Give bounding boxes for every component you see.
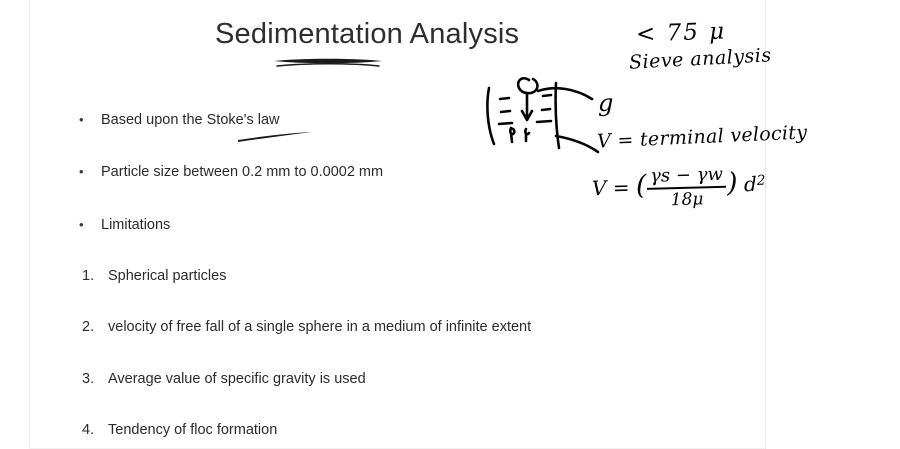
bullet-dot-icon: • bbox=[79, 218, 101, 231]
list-item-specific-gravity: 3. Average value of specific gravity is … bbox=[82, 371, 366, 387]
formula-fraction: γs − γw18μ bbox=[647, 164, 727, 211]
list-item-number: 2. bbox=[82, 319, 108, 335]
annotation-stokes-formula: V = (γs − γw18μ) d2 bbox=[591, 163, 766, 213]
list-item-spherical-particles: 1. Spherical particles bbox=[82, 268, 226, 284]
formula-denominator: 18μ bbox=[668, 189, 707, 210]
formula-close-paren: ) bbox=[727, 167, 738, 198]
list-item-number: 4. bbox=[82, 422, 108, 438]
bullet-dot-icon: • bbox=[79, 165, 101, 178]
list-item-label: velocity of free fall of a single sphere… bbox=[108, 319, 531, 335]
formula-numerator: γs − γw bbox=[647, 164, 726, 187]
bullet-text: Limitations bbox=[101, 217, 170, 233]
formula-factor: d bbox=[744, 172, 757, 196]
page-right-rule bbox=[765, 0, 766, 449]
annotation-method-note: Sieve analysis bbox=[629, 44, 773, 73]
bullet-item-particle-size: • Particle size between 0.2 mm to 0.0002… bbox=[79, 164, 383, 180]
list-item-number: 3. bbox=[82, 371, 108, 387]
list-item-free-fall-velocity: 2. velocity of free fall of a single sph… bbox=[82, 319, 531, 335]
list-item-number: 1. bbox=[82, 268, 108, 284]
list-item-floc-formation: 4. Tendency of floc formation bbox=[82, 422, 277, 438]
bullet-item-stokes-law: • Based upon the Stoke's law bbox=[79, 112, 280, 128]
slide-page: Sedimentation Analysis • Based upon the … bbox=[0, 0, 900, 449]
annotation-size-note: < 75 μ bbox=[636, 18, 727, 47]
formula-open-paren: ( bbox=[635, 170, 646, 201]
bullet-text: Particle size between 0.2 mm to 0.0002 m… bbox=[101, 164, 383, 180]
slide-title: Sedimentation Analysis bbox=[215, 18, 519, 51]
bullet-dot-icon: • bbox=[79, 113, 101, 126]
annotation-gravity-label: g bbox=[598, 89, 613, 117]
bullet-item-limitations: • Limitations bbox=[79, 217, 170, 233]
annotation-velocity-definition: V = terminal velocity bbox=[597, 121, 808, 152]
bullet-text: Based upon the Stoke's law bbox=[101, 112, 280, 128]
list-item-label: Average value of specific gravity is use… bbox=[108, 371, 366, 387]
stokes-law-underline-ink bbox=[236, 131, 314, 143]
formula-exponent: 2 bbox=[757, 173, 766, 189]
title-underline-ink bbox=[272, 57, 384, 69]
page-left-rule bbox=[29, 0, 30, 449]
list-item-label: Tendency of floc formation bbox=[108, 422, 277, 438]
formula-lhs: V = bbox=[592, 175, 630, 200]
list-item-label: Spherical particles bbox=[108, 268, 226, 284]
